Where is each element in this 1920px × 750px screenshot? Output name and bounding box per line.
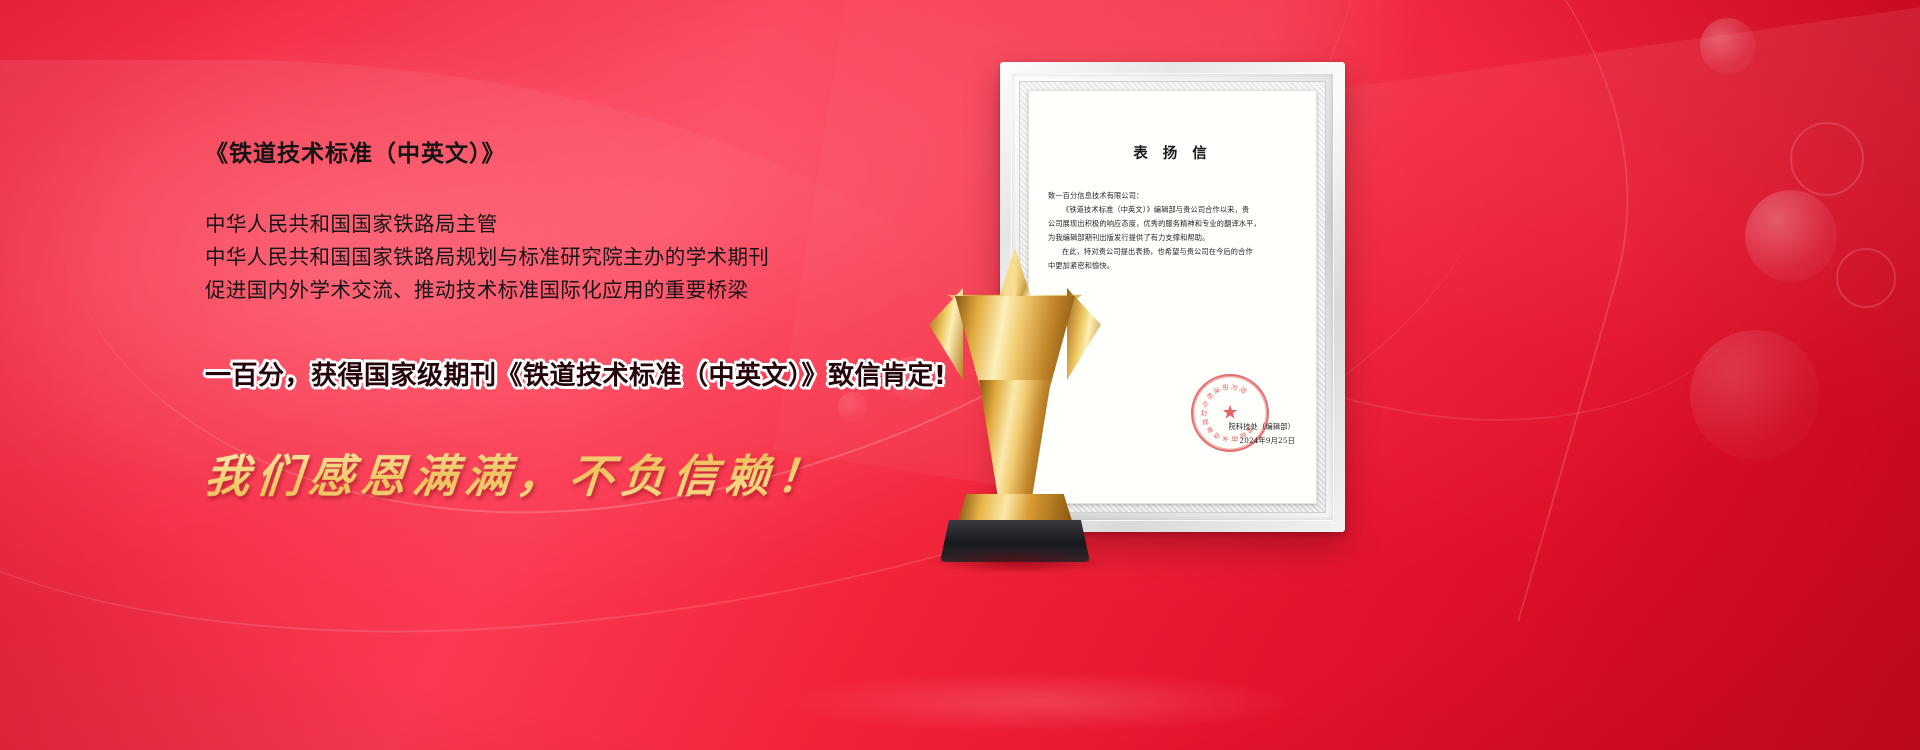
certificate-signature: 院科技处（编辑部） 2024年9月25日 (1229, 420, 1296, 448)
headline-text: 一百分，获得国家级期刊《铁道技术标准（中英文）》致信肯定! (205, 355, 965, 392)
certificate-line: 公司展现出积极的响应态度，优秀的服务精神和专业的翻译水平， (1048, 217, 1297, 231)
signature-org: 院科技处（编辑部） (1229, 420, 1296, 434)
journal-title: 《铁道技术标准（中英文）》 (205, 140, 965, 170)
trophy-plinth (957, 494, 1073, 524)
gold-star-trophy (915, 248, 1115, 568)
trophy-stem (979, 380, 1051, 496)
seal-char: 规 (1201, 417, 1209, 427)
floor-glow (780, 672, 1300, 732)
description-line: 中华人民共和国国家铁路局规划与标准研究院主办的学术期刊 (205, 241, 965, 274)
signature-date: 2024年9月25日 (1229, 434, 1296, 448)
description-line: 中华人民共和国国家铁路局主管 (205, 208, 965, 241)
calligraphy-slogan: 我们感恩满满，不负信赖！ (202, 440, 968, 505)
trophy-cup (955, 296, 1075, 392)
banner-text-block: 《铁道技术标准（中英文）》 中华人民共和国国家铁路局主管 中华人民共和国国家铁路… (205, 140, 965, 505)
certificate-line: 《铁道技术标准（中英文）》编辑部与贵公司合作以来，贵 (1048, 203, 1297, 217)
seal-char: 院 (1238, 385, 1249, 396)
promo-banner: 《铁道技术标准（中英文）》 中华人民共和国国家铁路局主管 中华人民共和国国家铁路… (0, 0, 1920, 750)
certificate-line: 为我编辑部期刊出版发行提供了有力支撑和帮助。 (1048, 231, 1297, 245)
description-line: 促进国内外学术交流、推动技术标准国际化应用的重要桥梁 (205, 274, 965, 307)
certificate-line: 致一百分信息技术有限公司： (1048, 189, 1297, 203)
certificate-title: 表 扬 信 (1048, 142, 1297, 163)
journal-description: 中华人民共和国国家铁路局主管 中华人民共和国国家铁路局规划与标准研究院主办的学术… (205, 208, 965, 307)
trophy-shadow (925, 548, 1105, 574)
